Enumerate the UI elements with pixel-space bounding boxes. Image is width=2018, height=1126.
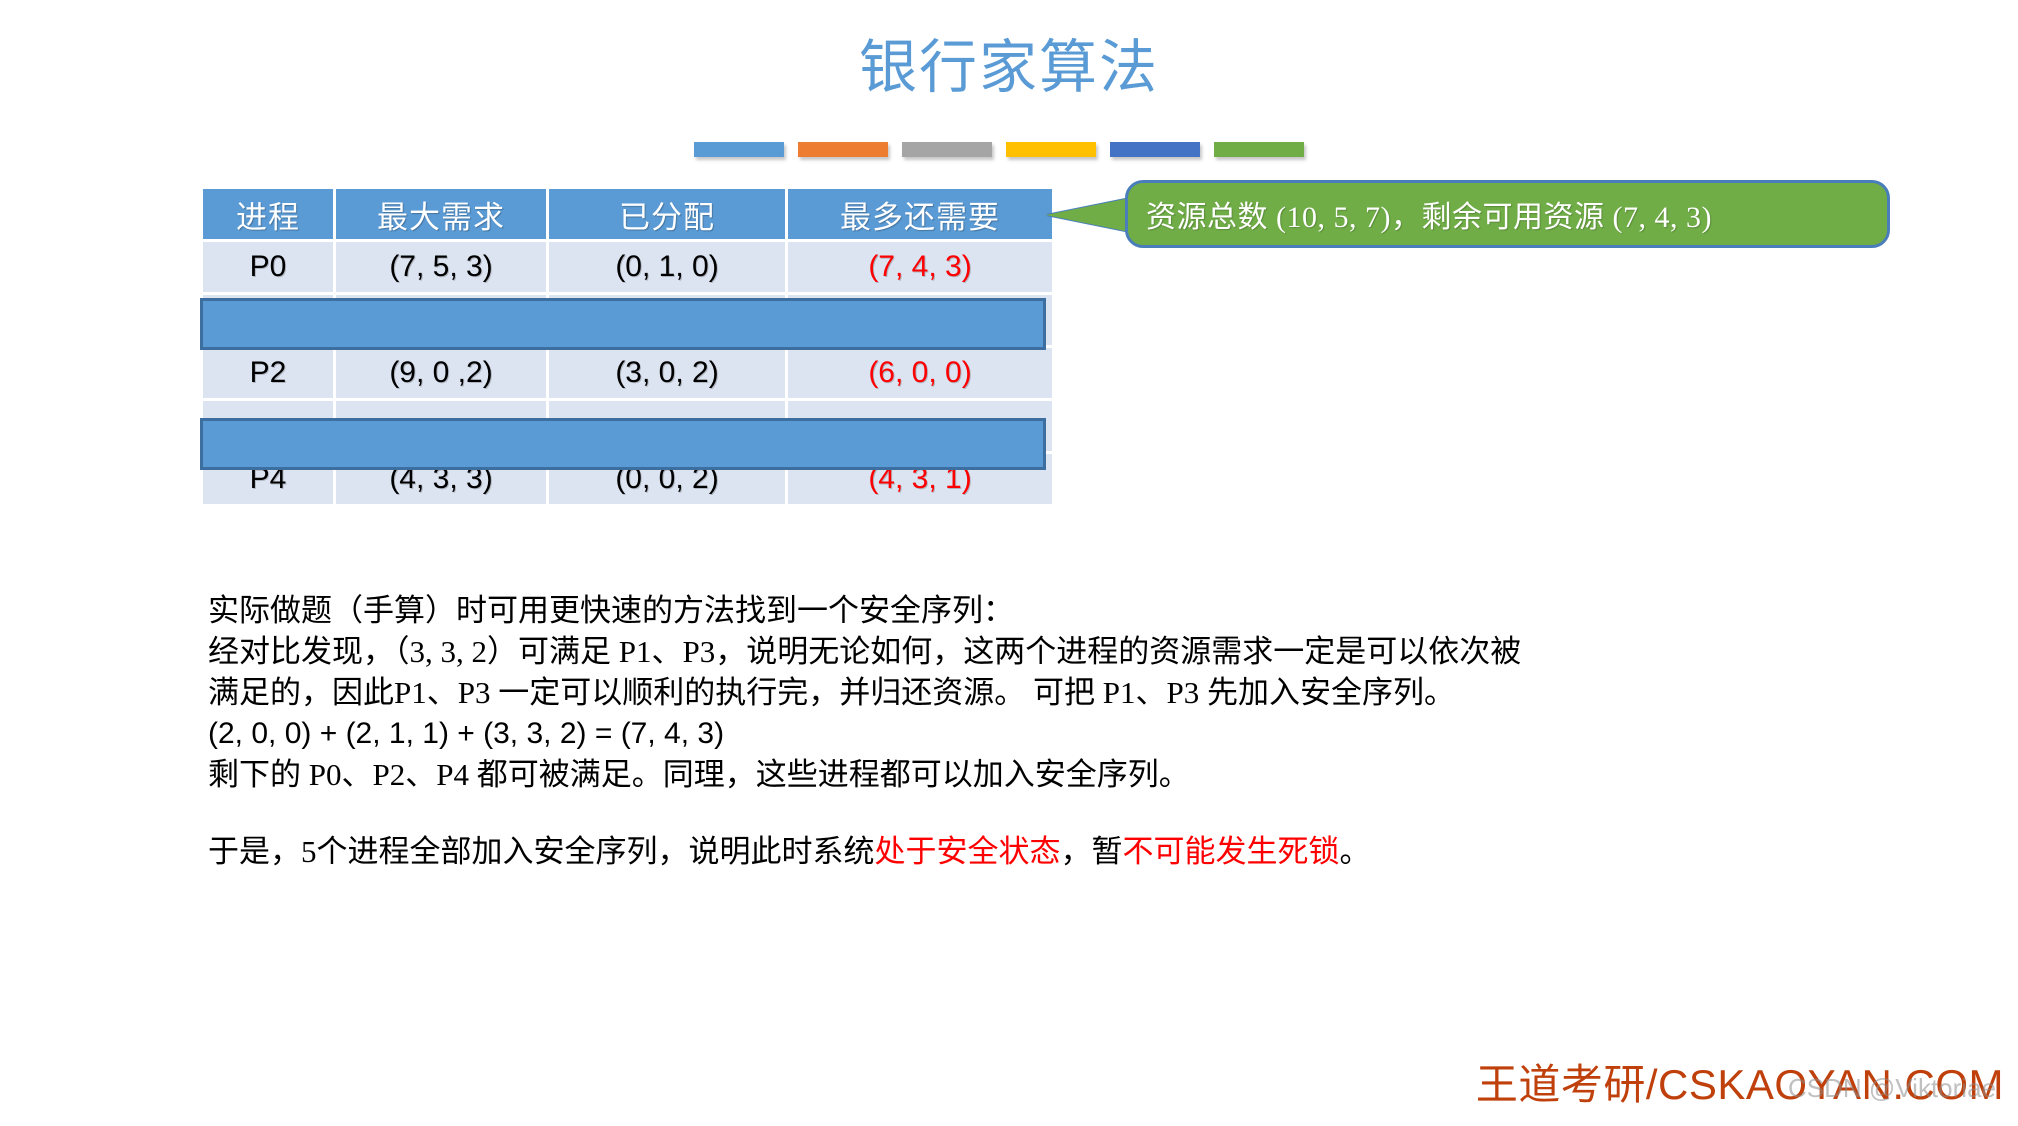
bar-gold bbox=[1006, 142, 1096, 157]
paragraph-spacer bbox=[208, 795, 1908, 831]
conclusion-highlight-no-deadlock: 不可能发生死锁 bbox=[1123, 834, 1340, 869]
col-header-need: 最多还需要 bbox=[788, 189, 1052, 239]
table-row: P2 (9, 0 ,2) (3, 0, 2) (6, 0, 0) bbox=[203, 348, 1052, 398]
cell-max: (7, 5, 3) bbox=[336, 242, 546, 292]
cell-allocated: (3, 0, 2) bbox=[549, 348, 785, 398]
cover-rectangle-p3 bbox=[200, 418, 1046, 470]
conclusion-highlight-safe-state: 处于安全状态 bbox=[875, 834, 1061, 869]
callout-tail-icon bbox=[1046, 198, 1130, 232]
resource-callout: 资源总数 (10, 5, 7)，剩余可用资源 (7, 4, 3) bbox=[1125, 180, 1890, 248]
cell-process: P0 bbox=[203, 242, 333, 292]
bar-orange bbox=[798, 142, 888, 157]
col-header-process: 进程 bbox=[203, 189, 333, 239]
cover-rectangle-p1 bbox=[200, 298, 1046, 350]
bar-green bbox=[1214, 142, 1304, 157]
cell-need: (7, 4, 3) bbox=[788, 242, 1052, 292]
resource-callout-text: 资源总数 (10, 5, 7)，剩余可用资源 (7, 4, 3) bbox=[1146, 192, 1712, 236]
cell-max: (9, 0 ,2) bbox=[336, 348, 546, 398]
conclusion-part-c: 。 bbox=[1340, 834, 1371, 869]
explanation-sum-line: (2, 0, 0) + (2, 1, 1) + (3, 3, 2) = (7, … bbox=[208, 713, 1908, 754]
col-header-max: 最大需求 bbox=[336, 189, 546, 239]
footer-brand: 王道考研/CSKAOYAN.COM bbox=[1476, 1051, 2004, 1112]
col-header-allocated: 已分配 bbox=[549, 189, 785, 239]
cell-process: P2 bbox=[203, 348, 333, 398]
page-title: 银行家算法 bbox=[0, 34, 2018, 102]
explanation-line-3: 满足的，因此P1、P3 一定可以顺利的执行完，并归还资源。 可把 P1、P3 先… bbox=[208, 672, 1908, 713]
bar-gray bbox=[902, 142, 992, 157]
explanation-line-1: 实际做题（手算）时可用更快速的方法找到一个安全序列： bbox=[208, 590, 1908, 631]
table-row: P0 (7, 5, 3) (0, 1, 0) (7, 4, 3) bbox=[203, 242, 1052, 292]
bar-blue bbox=[694, 142, 784, 157]
explanation-line-5: 剩下的 P0、P2、P4 都可被满足。同理，这些进程都可以加入安全序列。 bbox=[208, 754, 1908, 795]
table-header-row: 进程 最大需求 已分配 最多还需要 bbox=[203, 189, 1052, 239]
conclusion-part-b: ，暂 bbox=[1061, 834, 1123, 869]
cell-need: (6, 0, 0) bbox=[788, 348, 1052, 398]
explanation-conclusion: 于是，5个进程全部加入安全序列，说明此时系统处于安全状态，暂不可能发生死锁。 bbox=[208, 831, 1908, 872]
conclusion-part-a: 于是，5个进程全部加入安全序列，说明此时系统 bbox=[208, 834, 875, 869]
explanation-block: 实际做题（手算）时可用更快速的方法找到一个安全序列： 经对比发现，（3, 3, … bbox=[208, 590, 1908, 872]
explanation-line-2: 经对比发现，（3, 3, 2）可满足 P1、P3，说明无论如何，这两个进程的资源… bbox=[208, 631, 1908, 672]
bar-dark-blue bbox=[1110, 142, 1200, 157]
cell-allocated: (0, 1, 0) bbox=[549, 242, 785, 292]
decorative-bar-strip bbox=[694, 142, 1304, 157]
